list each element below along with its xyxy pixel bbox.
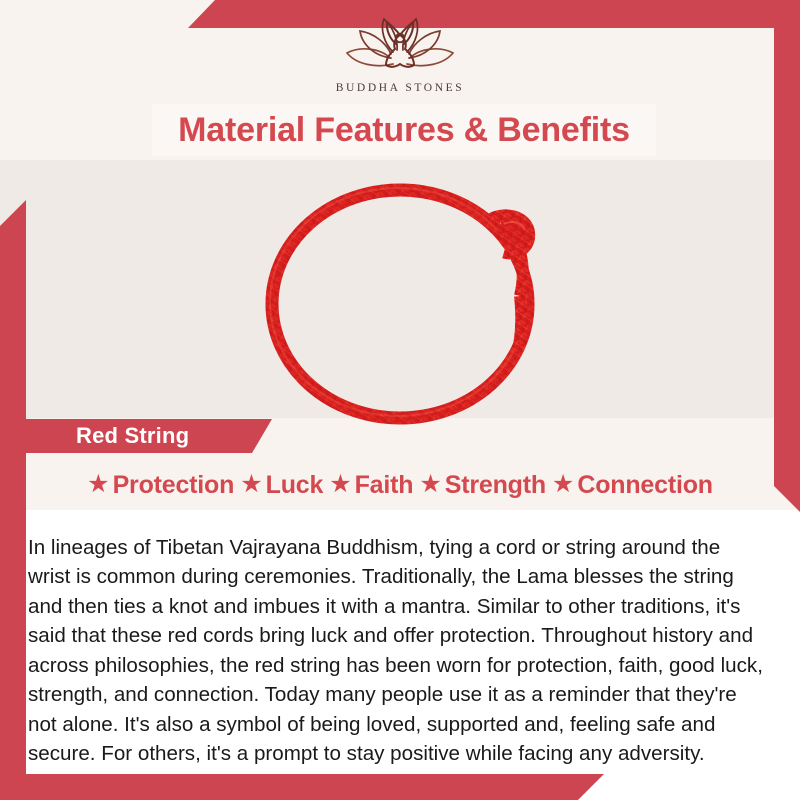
description-paragraph: In lineages of Tibetan Vajrayana Buddhis… xyxy=(28,533,768,769)
brand-name: BUDDHA STONES xyxy=(336,82,464,94)
benefit-label: Luck xyxy=(266,471,324,500)
product-image-red-string-bracelet xyxy=(232,168,582,430)
benefit-item: ★ Connection xyxy=(552,471,713,500)
product-name-ribbon: Red String xyxy=(26,419,272,453)
star-icon: ★ xyxy=(87,472,109,497)
benefits-list: ★ Protection ★ Luck ★ Faith ★ Strength ★… xyxy=(26,466,774,504)
benefit-item: ★ Faith xyxy=(329,471,413,500)
star-icon: ★ xyxy=(552,472,574,497)
page-title: Material Features & Benefits xyxy=(178,111,630,150)
benefit-item: ★ Luck xyxy=(240,471,323,500)
benefit-item: ★ Protection xyxy=(87,471,234,500)
star-icon: ★ xyxy=(419,472,441,497)
benefit-label: Faith xyxy=(355,471,414,500)
page-title-banner: Material Features & Benefits xyxy=(152,104,656,156)
benefit-item: ★ Strength xyxy=(419,471,546,500)
decorative-border-left xyxy=(0,200,26,786)
benefit-label: Protection xyxy=(113,471,235,500)
star-icon: ★ xyxy=(329,472,351,497)
product-name-label: Red String xyxy=(76,423,189,449)
brand-logo: BUDDHA STONES xyxy=(0,16,800,94)
benefit-label: Strength xyxy=(445,471,546,500)
lotus-meditation-icon xyxy=(334,16,466,80)
star-icon: ★ xyxy=(240,472,262,497)
benefit-label: Connection xyxy=(577,471,713,500)
infographic-page: BUDDHA STONES Material Features & Benefi… xyxy=(0,0,800,800)
